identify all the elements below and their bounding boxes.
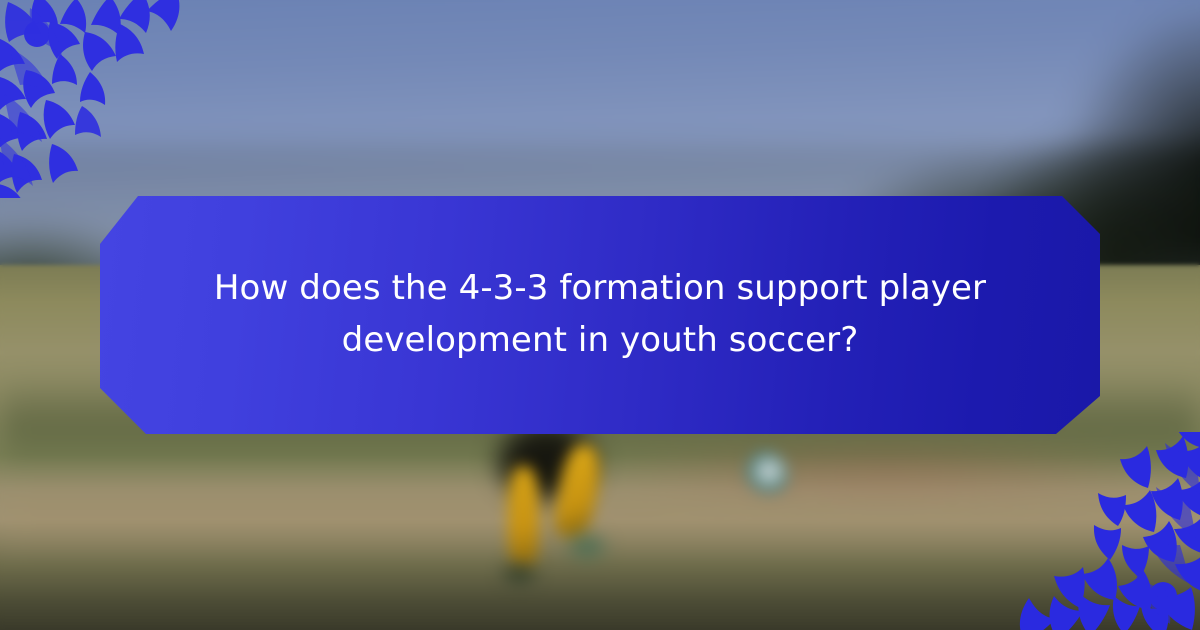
headline-text: How does the 4-3-3 formation support pla… [200,263,1000,366]
headline-banner: How does the 4-3-3 formation support pla… [100,196,1100,434]
promo-card: How does the 4-3-3 formation support pla… [0,0,1200,630]
